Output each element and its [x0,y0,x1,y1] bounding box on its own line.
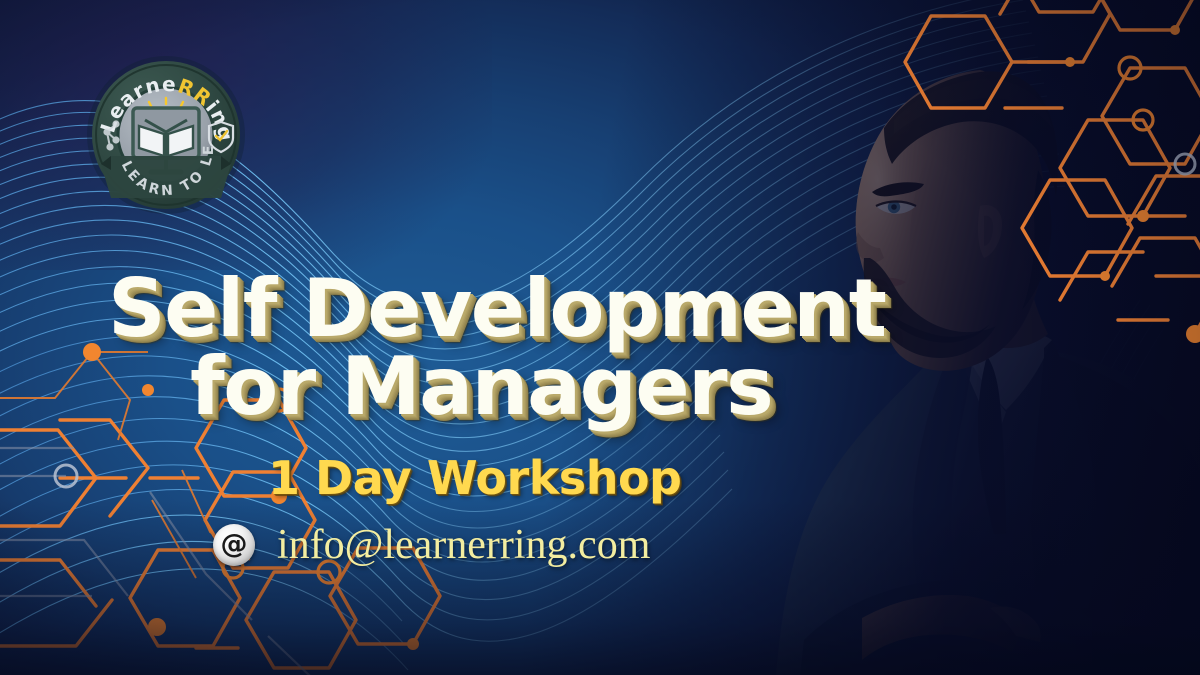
learnerring-logo[interactable]: LearneRRing [83,52,249,218]
at-sign-icon: @ [213,524,255,566]
contact-email-row[interactable]: @ info@learnerring.com [213,521,888,569]
headline-block: Self Development for Managers 1 Day Work… [108,270,888,569]
event-banner-poster: LearneRRing [0,0,1200,675]
title-line-2: for Managers [190,348,888,426]
workshop-subtitle: 1 Day Workshop [268,451,888,505]
contact-email-text[interactable]: info@learnerring.com [277,521,650,569]
title-line-1: Self Development [108,270,888,348]
